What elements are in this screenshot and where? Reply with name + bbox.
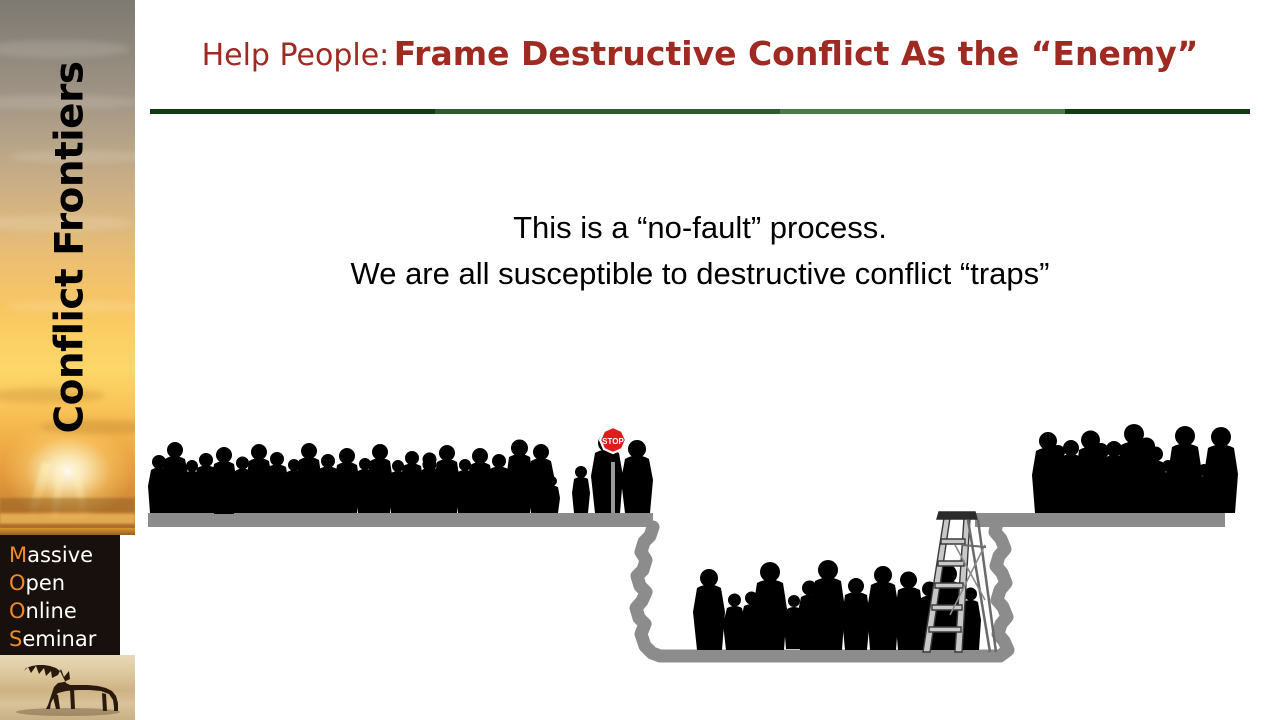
moose-icon (6, 659, 131, 719)
stop-sign: STOP (600, 427, 626, 513)
title-lead: Help People: (202, 38, 390, 73)
title-divider-rule (150, 109, 1250, 114)
left-ledge (148, 513, 653, 527)
body-line-2: We are all susceptible to destructive co… (150, 251, 1250, 297)
body-text: This is a “no-fault” process. We are all… (150, 205, 1250, 297)
moos-line: Open (0, 569, 120, 597)
moos-word-rest: assive (27, 543, 93, 567)
moos-logo-block: Massive Open Online Seminar (0, 535, 120, 655)
right-ledge (975, 513, 1225, 527)
slide-canvas: Conflict Frontiers Massive Open Online S… (0, 0, 1280, 720)
title-main: Frame Destructive Conflict As the “Enemy… (394, 34, 1199, 73)
stop-sign-plate (600, 427, 626, 453)
moos-initial: O (9, 571, 26, 595)
stop-sign-label: STOP (602, 437, 624, 446)
moos-line: Seminar (0, 625, 120, 653)
people-trapped-in-pit (693, 560, 981, 650)
sidebar-right-edge (120, 535, 135, 655)
moos-line: Massive (0, 541, 120, 569)
moos-word-rest: eminar (22, 627, 96, 651)
conflict-trap-illustration: STOP (0, 0, 1280, 720)
page-title: Help People: Frame Destructive Conflict … (150, 34, 1250, 73)
moose-photo (0, 655, 135, 720)
moos-line: Online (0, 597, 120, 625)
pit-walls (636, 522, 1008, 656)
moos-word-rest: nline (26, 599, 77, 623)
sidebar: Conflict Frontiers Massive Open Online S… (0, 0, 135, 720)
crowd-on-left-ledge (148, 434, 653, 514)
step-ladder (923, 512, 996, 652)
moos-word-rest: pen (26, 571, 66, 595)
body-line-1: This is a “no-fault” process. (150, 205, 1250, 251)
sidebar-brand-title: Conflict Frontiers (3, 3, 136, 493)
moos-initial: S (9, 627, 22, 651)
moos-initial: M (9, 543, 27, 567)
crowd-on-right-ledge (1032, 424, 1238, 513)
stop-sign-pole (611, 462, 615, 513)
moos-initial: O (9, 599, 26, 623)
